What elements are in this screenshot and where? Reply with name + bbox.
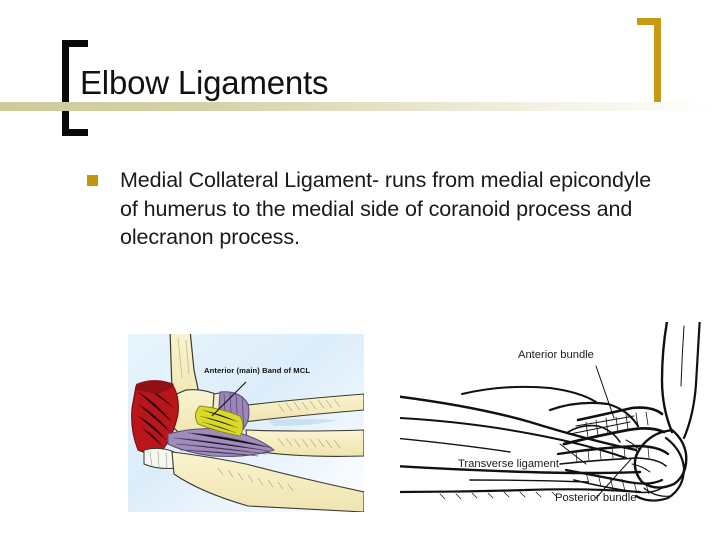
figure-right-label-posterior-bundle: Posterior bundle [555,492,636,504]
list-item: Medial Collateral Ligament- runs from me… [86,166,672,252]
title-underline-rule [0,102,720,111]
mcl-illustration-svg [128,334,364,512]
figure-right-label-transverse-ligament: Transverse ligament [458,458,559,470]
figure-ulnar-collateral-ligament: Anterior bundle Transverse ligament Post… [400,322,720,540]
figure-left-caption: Anterior (main) Band of MCL [204,366,310,375]
slide-canvas: Elbow Ligaments Medial Collateral Ligame… [0,0,720,540]
figure-right-label-anterior-bundle: Anterior bundle [518,349,594,361]
bullet-square-icon [87,175,98,186]
bullet-text: Medial Collateral Ligament- runs from me… [120,168,651,249]
right-bracket-decoration [637,18,661,110]
figure-mcl-anterior-band: Anterior (main) Band of MCL [128,334,364,512]
page-title: Elbow Ligaments [80,63,620,103]
body-content: Medial Collateral Ligament- runs from me… [86,166,672,252]
